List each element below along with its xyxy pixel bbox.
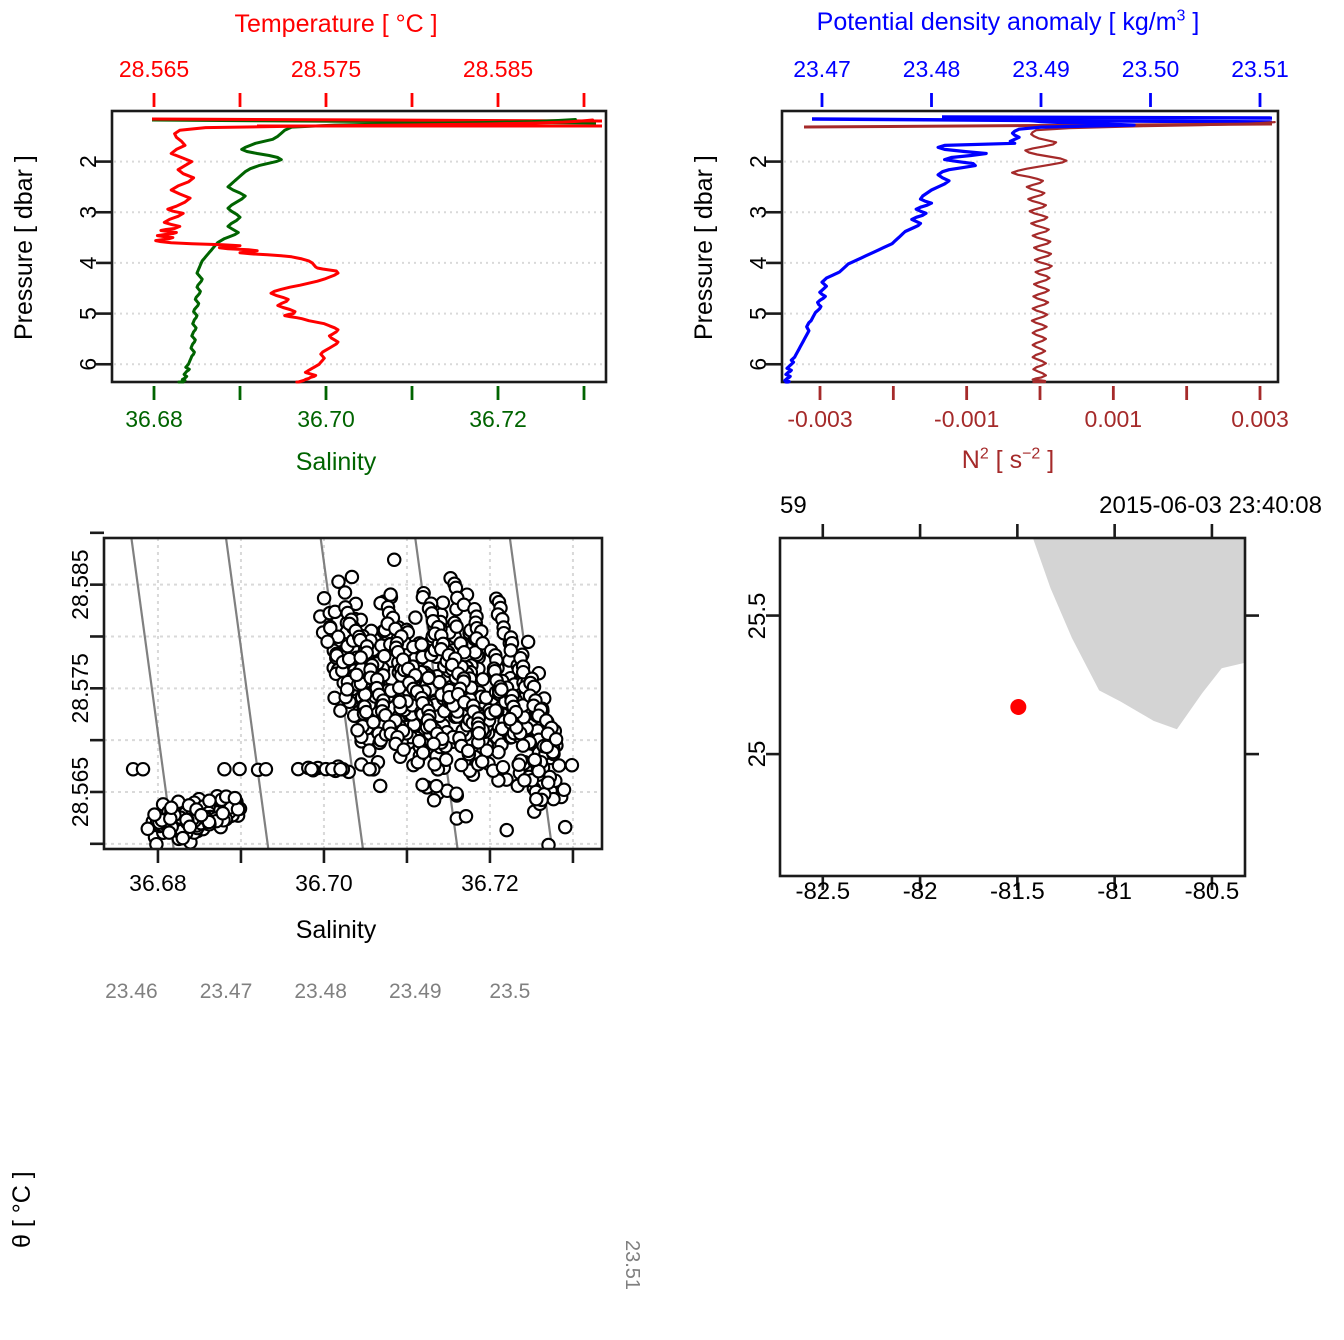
theta-tick-label: 28.565 bbox=[67, 757, 93, 827]
panel-theta-salinity-diagram: 23.4623.4723.4823.4923.5 28.56528.57528.… bbox=[0, 480, 672, 960]
pressure-tick-label: 6 bbox=[75, 358, 101, 371]
pressure-tick-label: 2 bbox=[75, 155, 101, 168]
n2-axis-title-text: N2 [ s−2 ] bbox=[962, 446, 1054, 474]
theta-tick-label: 28.575 bbox=[67, 653, 93, 723]
axis-tick-label: 36.70 bbox=[297, 406, 355, 433]
isopycnal-line bbox=[604, 538, 646, 849]
salinity-tick-labels: 36.6836.7036.72 bbox=[0, 406, 672, 432]
theta-axis-title: θ [ °C ] bbox=[8, 1080, 38, 1340]
land-polygon bbox=[1033, 538, 1245, 729]
ts-salinity-axis-title: Salinity bbox=[0, 916, 672, 945]
panel-density-n2-profile: Potential density anomaly [ kg/m3 ] 23.4… bbox=[672, 0, 1344, 480]
isopycnal-label: 23.48 bbox=[294, 980, 347, 1004]
pressure-tick-label: 2 bbox=[745, 155, 771, 168]
isopycnal-label: 23.46 bbox=[105, 980, 158, 1004]
axis-tick-label: 0.001 bbox=[1085, 406, 1143, 433]
theta-tick-label: 28.585 bbox=[67, 549, 93, 619]
axis-tick-label: -82 bbox=[903, 878, 938, 906]
axis-tick-label: 36.72 bbox=[461, 870, 519, 897]
axis-tick-label: -80.5 bbox=[1185, 878, 1240, 906]
pressure-axis-title-right: Pressure [ dbar ] bbox=[690, 110, 720, 385]
axis-tick-label: 0.003 bbox=[1231, 406, 1289, 433]
pressure-tick-label: 5 bbox=[75, 307, 101, 320]
isopycnal-label: 23.47 bbox=[200, 980, 253, 1004]
panel-temperature-salinity-profile: Temperature [ °C ] 28.56528.57528.585 23… bbox=[0, 0, 672, 480]
pressure-tick-label: 6 bbox=[745, 358, 771, 371]
axis-tick-label: 36.70 bbox=[295, 870, 353, 897]
ts-scatter-points bbox=[127, 554, 578, 852]
panel-station-map: 59 2015-06-03 23:40:08 2525.5 -82.5-82-8… bbox=[672, 480, 1344, 960]
pressure-tick-label: 3 bbox=[745, 206, 771, 219]
station-marker[interactable] bbox=[1010, 699, 1026, 715]
profile-line-potential-density-anomaly bbox=[785, 120, 1134, 383]
axis-tick-label: -81 bbox=[1097, 878, 1132, 906]
figure-root: Temperature [ °C ] 28.56528.57528.585 23… bbox=[0, 0, 1344, 960]
isopycnal-label: 23.49 bbox=[389, 980, 442, 1004]
isopycnal-label-2351: 23.51 bbox=[620, 1240, 643, 1290]
pressure-tick-label: 5 bbox=[745, 307, 771, 320]
n2-tick-labels: -0.003-0.0010.0010.003 bbox=[672, 406, 1344, 432]
n2-axis-title: N2 [ s−2 ] bbox=[672, 446, 1344, 475]
axis-tick-label: 36.68 bbox=[125, 406, 183, 433]
axis-tick-label: -82.5 bbox=[795, 878, 850, 906]
isopycnal-tick-labels: 23.4623.4723.4823.4923.5 bbox=[0, 980, 672, 1006]
axis-tick-label: 36.72 bbox=[469, 406, 527, 433]
profile-line-temperature bbox=[156, 120, 593, 382]
salinity-axis-title: Salinity bbox=[0, 448, 672, 477]
pressure-tick-label: 4 bbox=[75, 256, 101, 269]
ts-salinity-tick-labels: 36.6836.7036.72 bbox=[0, 870, 672, 896]
pressure-axis-title-left: Pressure [ dbar ] bbox=[10, 110, 40, 385]
isopycnal-label: 23.5 bbox=[489, 980, 530, 1004]
axis-tick-label: -81.5 bbox=[990, 878, 1045, 906]
axis-tick-label: -0.003 bbox=[787, 406, 852, 433]
pressure-tick-label: 3 bbox=[75, 206, 101, 219]
pressure-tick-label: 4 bbox=[745, 256, 771, 269]
axis-tick-label: -0.001 bbox=[934, 406, 999, 433]
axis-tick-label: 36.68 bbox=[129, 870, 187, 897]
map-lon-tick-labels: -82.5-82-81.5-81-80.5 bbox=[672, 878, 1344, 908]
